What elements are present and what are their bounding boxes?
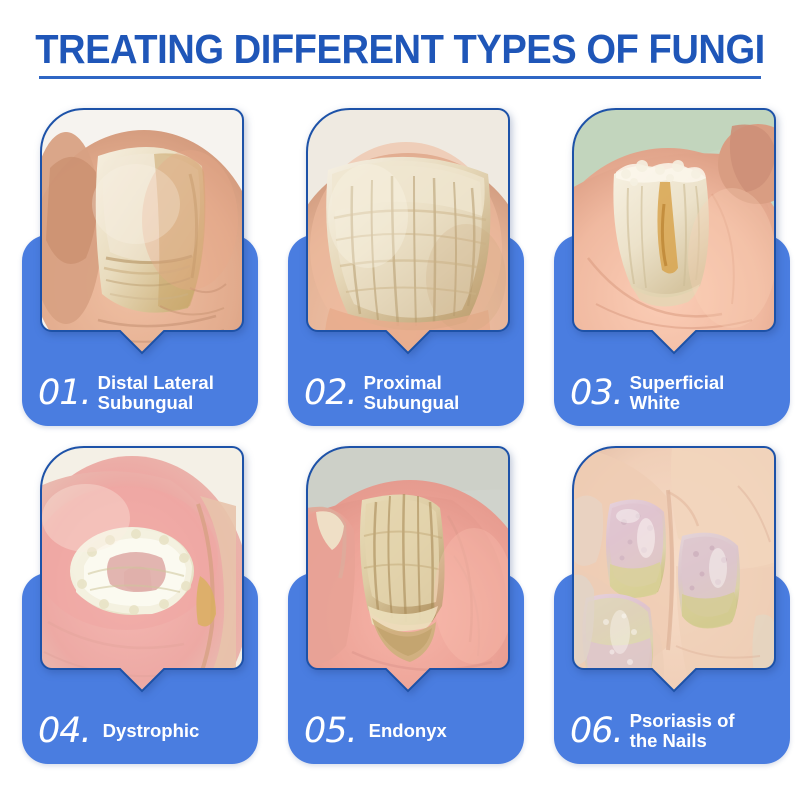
card-number: 02. (304, 375, 357, 411)
card-label-row: 01. Distal Lateral Subungual (22, 359, 258, 426)
card-label-row: 05. Endonyx (288, 697, 524, 764)
title-block: TREATING DIFFERENT TYPES OF FUNGI (0, 26, 800, 79)
fungi-type-card-06[interactable]: 06. Psoriasis of the Nails (554, 446, 790, 764)
card-label-line-1: Distal Lateral (98, 372, 214, 393)
card-label-line-1: Proximal (364, 372, 442, 393)
card-label-line-2: White (630, 392, 680, 413)
card-label-row: 02. Proximal Subungual (288, 359, 524, 426)
card-label: Endonyx (369, 721, 524, 741)
page-title: TREATING DIFFERENT TYPES OF FUNGI (28, 26, 772, 72)
toenail-superficial-white-photo (572, 108, 776, 358)
card-label-row: 04. Dystrophic (22, 697, 258, 764)
fungi-type-card-01[interactable]: 01. Distal Lateral Subungual (22, 108, 258, 426)
card-label-line-1: Psoriasis of (630, 710, 735, 731)
card-label: Superficial White (630, 373, 790, 413)
fungi-type-card-03[interactable]: 03. Superficial White (554, 108, 790, 426)
toenail-proximal-subungual-photo (306, 108, 510, 358)
toenail-distal-lateral-subungual-photo (40, 108, 244, 358)
fungi-type-card-grid: 01. Distal Lateral Subungual (22, 108, 782, 764)
card-label: Psoriasis of the Nails (630, 711, 790, 751)
infographic-page: TREATING DIFFERENT TYPES OF FUNGI (0, 0, 800, 800)
card-label-row: 06. Psoriasis of the Nails (554, 697, 790, 764)
fungi-type-card-05[interactable]: 05. Endonyx (288, 446, 524, 764)
fungi-type-card-04[interactable]: 04. Dystrophic (22, 446, 258, 764)
title-underline-rule (39, 76, 761, 79)
toenail-dystrophic-photo (40, 446, 244, 696)
card-number: 03. (570, 375, 623, 411)
card-label-line-2: Subungual (98, 392, 194, 413)
card-number: 01. (38, 375, 91, 411)
toenail-endonyx-photo (306, 446, 510, 696)
card-number: 04. (38, 713, 91, 749)
fungi-type-card-02[interactable]: 02. Proximal Subungual (288, 108, 524, 426)
fingernails-psoriasis-photo (572, 446, 776, 696)
card-number: 06. (570, 713, 623, 749)
card-label-line-2: Subungual (364, 392, 460, 413)
card-label: Distal Lateral Subungual (98, 373, 258, 413)
card-label-row: 03. Superficial White (554, 359, 790, 426)
card-label-line-1: Superficial (630, 372, 725, 393)
card-label-line-2: the Nails (630, 730, 707, 751)
card-number: 05. (304, 713, 357, 749)
card-label: Proximal Subungual (364, 373, 524, 413)
card-label: Dystrophic (103, 721, 258, 741)
